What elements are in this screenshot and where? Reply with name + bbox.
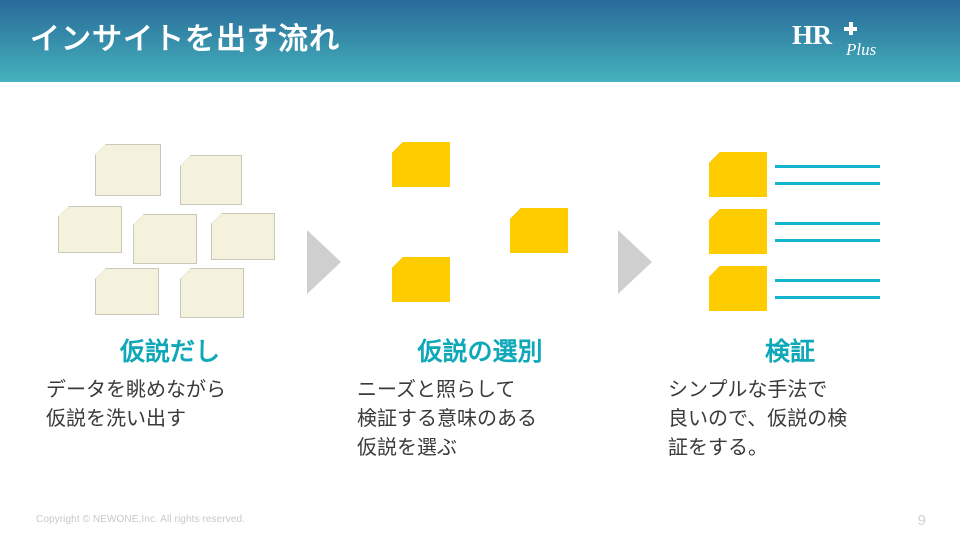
column-heading-1: 仮説だし xyxy=(20,337,320,367)
sticky-note-yellow xyxy=(709,152,767,197)
hr-plus-logo: HR Plus xyxy=(792,20,912,68)
sticky-note-yellow xyxy=(392,142,450,187)
note-body xyxy=(709,209,767,254)
sticky-note-cream xyxy=(180,268,242,316)
process-diagram: 仮説だし 仮説の選別 検証 データを眺めながら 仮説を洗い出す ニーズと照らして… xyxy=(0,82,960,540)
result-line xyxy=(775,165,880,168)
note-body xyxy=(95,144,161,196)
result-line xyxy=(775,279,880,282)
page-number: 9 xyxy=(918,512,926,529)
sticky-note-cream xyxy=(211,213,273,258)
result-line xyxy=(775,182,880,185)
sticky-note-cream xyxy=(95,144,159,194)
sticky-note-yellow xyxy=(392,257,450,302)
sticky-note-cream xyxy=(95,268,157,313)
sticky-note-cream xyxy=(133,214,195,262)
note-body xyxy=(392,257,450,302)
note-body xyxy=(709,266,767,311)
column-body-2: ニーズと照らして 検証する意味のある 仮説を選ぶ xyxy=(357,376,647,463)
result-line xyxy=(775,296,880,299)
logo-hr-text: HR xyxy=(792,20,832,51)
slide-header: インサイトを出す流れ HR Plus xyxy=(0,0,960,82)
note-body xyxy=(180,155,242,205)
note-body xyxy=(133,214,197,264)
slide: インサイトを出す流れ HR Plus xyxy=(0,0,960,540)
note-body xyxy=(58,206,122,253)
sticky-note-yellow xyxy=(709,209,767,254)
sticky-note-yellow xyxy=(709,266,767,311)
page-title: インサイトを出す流れ xyxy=(30,20,340,60)
arrow-1 xyxy=(307,230,341,294)
note-body xyxy=(392,142,450,187)
note-body xyxy=(180,268,244,318)
column-body-3: シンプルな手法で 良いので、仮説の検 証をする。 xyxy=(668,376,958,463)
logo-plus-script: Plus xyxy=(846,40,876,60)
note-body xyxy=(709,152,767,197)
note-body xyxy=(95,268,159,315)
column-heading-2: 仮説の選別 xyxy=(330,337,630,367)
note-body xyxy=(510,208,568,253)
copyright-text: Copyright © NEWONE,Inc. All rights reser… xyxy=(36,514,245,525)
sticky-note-yellow xyxy=(510,208,568,253)
plus-cross-icon xyxy=(844,22,857,35)
result-line xyxy=(775,239,880,242)
sticky-note-cream xyxy=(58,206,120,251)
column-heading-3: 検証 xyxy=(640,337,940,367)
result-line xyxy=(775,222,880,225)
column-body-1: データを眺めながら 仮説を洗い出す xyxy=(46,376,336,434)
sticky-note-cream xyxy=(180,155,240,203)
note-body xyxy=(211,213,275,260)
arrow-2 xyxy=(618,230,652,294)
